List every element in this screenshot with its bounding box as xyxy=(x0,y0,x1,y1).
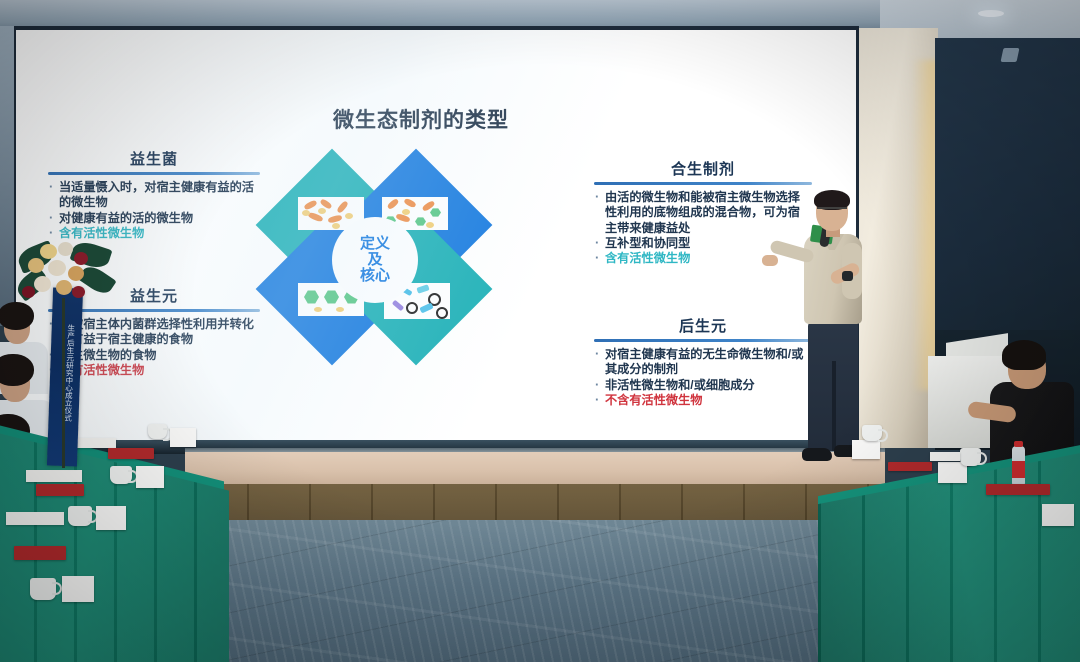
bullet-item: 对宿主健康有益的无生命微生物和/或其成分的制剂 xyxy=(594,347,812,378)
diagram-core-label: 定义 及 核心 xyxy=(360,236,390,284)
slide-block-probiotic: 益生菌 当适量慑入时，对宿主健康有益的活的微生物 对健康有益的活的微生物 含有活… xyxy=(48,148,260,241)
flower-bloom xyxy=(28,258,44,273)
flower-bloom xyxy=(40,244,57,259)
diagram-core-circle: 定义 及 核心 xyxy=(332,217,418,303)
wristwatch-icon xyxy=(842,271,853,281)
flower-bloom xyxy=(48,260,66,276)
name-card xyxy=(170,428,196,447)
folder xyxy=(36,484,84,496)
glasses-icon xyxy=(817,207,847,215)
block-bullets-probiotic: 当适量慑入时，对宿主健康有益的活的微生物 对健康有益的活的微生物 含有活性微生物 xyxy=(48,180,260,241)
core-line-3: 核心 xyxy=(360,267,390,284)
flower-bloom xyxy=(56,280,72,295)
wall-dark-panel xyxy=(935,38,1080,368)
bullet-item: 对健康有益的活的微生物 xyxy=(48,211,260,226)
core-line-2: 及 xyxy=(367,251,382,268)
paper xyxy=(26,470,82,482)
flower-bloom xyxy=(68,266,84,281)
wall-vent xyxy=(1001,48,1020,62)
block-bullets-postbiotic: 对宿主健康有益的无生命微生物和/或其成分的制剂 非活性微生物和/或细胞成分 不含… xyxy=(594,347,812,408)
block-heading-probiotic: 益生菌 xyxy=(48,148,260,169)
block-heading-synbiotic: 合生制剂 xyxy=(594,158,812,179)
flower-bloom xyxy=(34,276,51,292)
flower-arrangement: 生产后生元研究中心成立仪式 xyxy=(14,240,134,470)
folder xyxy=(888,462,932,471)
folder xyxy=(14,546,66,560)
ceiling-spotlight xyxy=(978,10,1004,17)
folder xyxy=(986,484,1050,495)
block-bullets-synbiotic: 由活的微生物和能被宿主微生物选择性利用的底物组成的混合物，可为宿主带来健康益处 … xyxy=(594,190,812,266)
name-card xyxy=(62,576,94,602)
paper xyxy=(930,452,960,461)
bottle-cap xyxy=(1014,441,1023,447)
center-diamond-diagram: 定义 及 核心 xyxy=(274,173,474,343)
flower-bloom xyxy=(22,286,35,298)
bullet-item-highlight: 含有活性微生物 xyxy=(48,226,260,241)
name-card xyxy=(136,466,164,488)
presenter-leg-split xyxy=(832,361,836,451)
cup xyxy=(148,424,167,439)
projection-screen: 微生态制剂的类型 xyxy=(16,30,856,445)
presenter-hand-left xyxy=(762,255,778,266)
water-bottle xyxy=(1012,446,1025,486)
presenter-shoe-left xyxy=(802,448,832,461)
name-card xyxy=(96,506,126,530)
block-rule-postbiotic xyxy=(594,339,812,342)
cup xyxy=(68,506,92,526)
name-card xyxy=(852,440,880,459)
presentation-photo-scene: 微生态制剂的类型 xyxy=(0,0,1080,662)
slide-title: 微生态制剂的类型 xyxy=(281,104,561,134)
bullet-item-highlight: 不含有活性微生物 xyxy=(594,393,812,408)
attendee-right-hair xyxy=(1002,340,1046,370)
block-rule-probiotic xyxy=(48,172,260,175)
paper xyxy=(6,512,64,525)
banner-text: 生产后生元研究中心成立仪式 xyxy=(54,324,75,422)
block-heading-postbiotic: 后生元 xyxy=(594,315,812,336)
name-card xyxy=(1042,504,1074,526)
cup xyxy=(960,448,981,466)
bullet-item: 非活性微生物和/或细胞成分 xyxy=(594,378,812,393)
congratulatory-banner: 生产后生元研究中心成立仪式 xyxy=(47,288,83,467)
core-line-1: 定义 xyxy=(360,235,390,252)
bullet-item: 当适量慑入时，对宿主健康有益的活的微生物 xyxy=(48,180,260,211)
bullet-item: 由活的微生物和能被宿主微生物选择性利用的底物组成的混合物，可为宿主带来健康益处 xyxy=(594,190,812,236)
flower-bloom xyxy=(58,242,73,256)
flower-stand xyxy=(62,298,65,468)
flower-bloom xyxy=(74,252,88,265)
stage-platform-top xyxy=(185,452,885,484)
cup xyxy=(862,425,882,441)
flower-bloom xyxy=(72,286,85,298)
block-rule-synbiotic xyxy=(594,182,812,185)
bottle-label xyxy=(1012,461,1025,478)
slide-block-postbiotic: 后生元 对宿主健康有益的无生命微生物和/或其成分的制剂 非活性微生物和/或细胞成… xyxy=(594,315,812,408)
cup xyxy=(30,578,56,600)
